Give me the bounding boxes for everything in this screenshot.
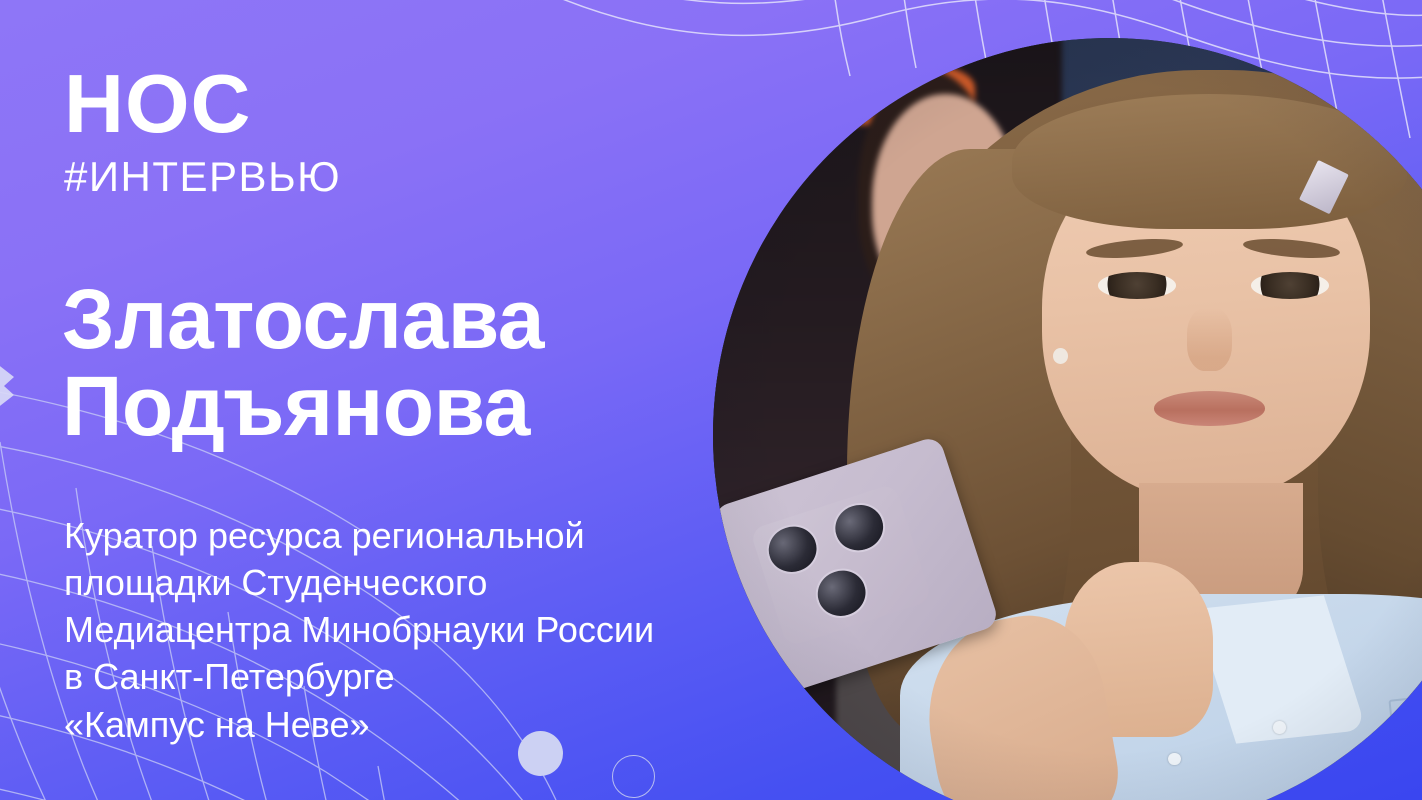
portrait-photo-circle [713,38,1422,800]
chevron-right-icon [0,363,24,409]
brand-logo: НОС [64,62,251,145]
photo-subject [840,38,1422,800]
interview-poster-card: НОС #ИНТЕРВЬЮ Златослава Подъянова Курат… [0,0,1422,800]
hashtag-label: #ИНТЕРВЬЮ [64,156,341,198]
person-role: Куратор ресурса региональной площадки Ст… [64,512,654,748]
person-name: Златослава Подъянова [62,276,544,451]
outline-circle-icon [612,755,655,798]
